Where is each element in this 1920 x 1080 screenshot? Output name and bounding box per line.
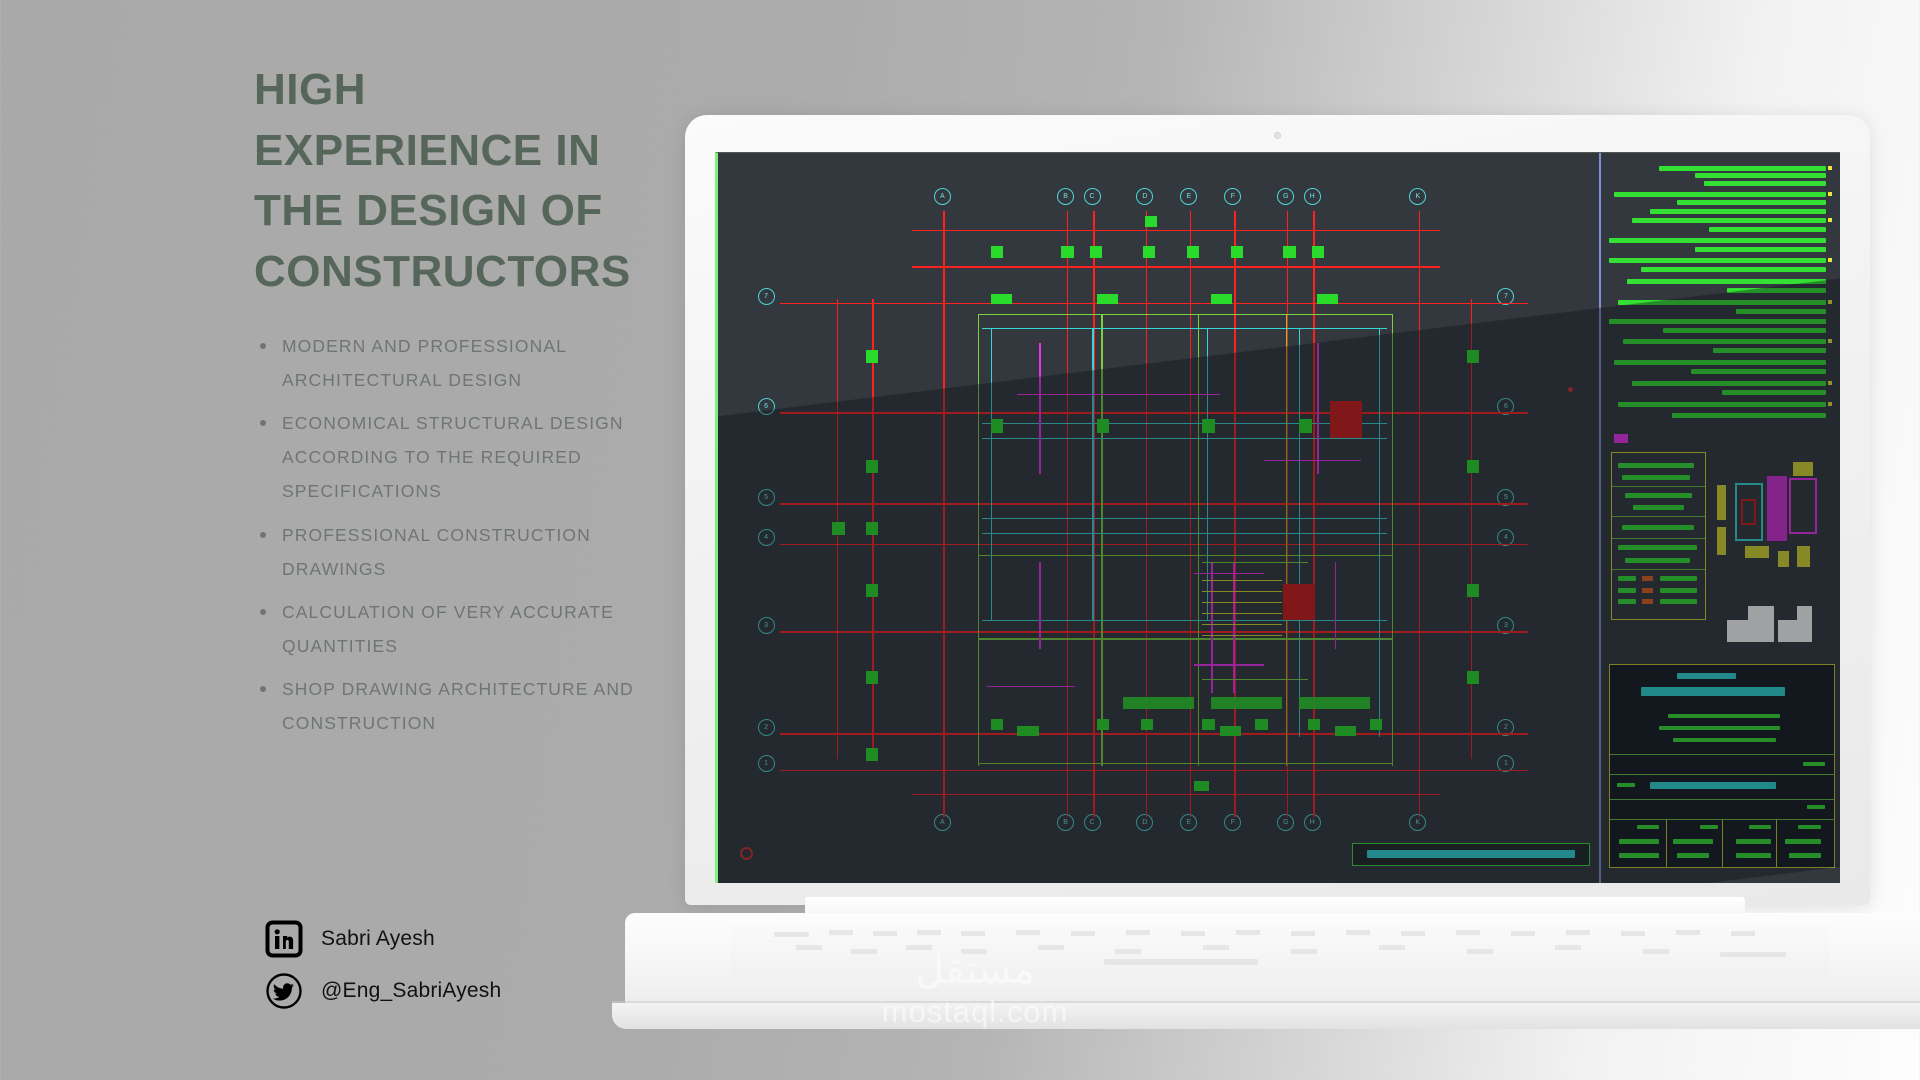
column	[1061, 246, 1073, 258]
keyboard-key	[1291, 931, 1315, 936]
stair-tread	[1202, 613, 1281, 614]
title-block-cell	[1736, 839, 1772, 844]
schedule-cell	[1660, 599, 1697, 604]
column	[1097, 719, 1109, 731]
slab-outline	[978, 314, 1392, 316]
column	[991, 719, 1003, 731]
grid-bubble-bottom-G: G	[1277, 814, 1294, 831]
grid-bubble-left-1: 1	[758, 755, 775, 772]
keyboard-key	[1379, 945, 1405, 950]
reinforcement-run	[1335, 562, 1337, 650]
bullet-marker-icon	[1828, 339, 1832, 343]
detail-part	[1717, 485, 1726, 520]
grid-bubble-top-E: E	[1180, 188, 1197, 205]
section-hatch	[1727, 606, 1821, 643]
keyboard-key	[1115, 949, 1141, 954]
gridline-horizontal	[780, 544, 1529, 545]
beam-line	[1207, 328, 1208, 620]
grid-bubble-left-7: 7	[758, 288, 775, 305]
dimension-text	[1211, 294, 1232, 304]
webcam-icon	[1274, 132, 1281, 139]
gridline-horizontal	[912, 230, 1440, 231]
staircase-outline	[1202, 679, 1308, 680]
schedule-cell	[1618, 463, 1694, 468]
gridline-horizontal	[780, 770, 1529, 771]
column	[991, 246, 1003, 258]
keyboard-key	[774, 932, 809, 937]
note-line	[1659, 166, 1826, 171]
autocad-drawing-canvas[interactable]: A B C D E F G H K A B C D E F G	[718, 153, 1840, 883]
drawing-note-label	[1352, 843, 1590, 866]
schedule-cell	[1660, 576, 1697, 581]
column	[991, 419, 1003, 432]
slab-outline	[978, 314, 980, 767]
dimension-text	[1317, 294, 1338, 304]
title-block-divider	[1610, 774, 1834, 775]
list-item: CALCULATION OF VERY ACCURATE QUANTITIES	[254, 595, 694, 663]
title-block-subline	[1673, 738, 1776, 742]
grid-bubble-top-F: F	[1224, 188, 1241, 205]
keyboard-key	[1016, 930, 1040, 935]
keyboard-key	[1643, 949, 1669, 954]
title-block-column-divider	[1722, 819, 1723, 868]
note-line	[1623, 339, 1827, 344]
keyboard-key	[873, 931, 897, 936]
annotation-text	[1123, 697, 1193, 709]
bullet-dot-icon	[260, 686, 266, 692]
detail-part	[1767, 476, 1787, 541]
note-line	[1614, 192, 1827, 197]
bullet-marker-icon	[1828, 381, 1832, 385]
keyboard-key	[1346, 930, 1370, 935]
bullet-dot-icon	[260, 609, 266, 615]
keyboard-key	[1203, 945, 1229, 950]
title-block-cell	[1789, 853, 1820, 858]
beam-line	[982, 518, 1387, 519]
keyboard-key	[1731, 931, 1755, 936]
grid-bubble-bottom-H: H	[1304, 814, 1321, 831]
beam-line	[982, 438, 1387, 439]
column	[1194, 781, 1210, 791]
detail-part	[1778, 551, 1789, 567]
schedule-cell	[1622, 475, 1690, 480]
grid-bubble-top-G: G	[1277, 188, 1294, 205]
schedule-cell	[1660, 588, 1697, 593]
column	[1299, 419, 1311, 432]
list-item: MODERN AND PROFESSIONAL ARCHITECTURAL DE…	[254, 329, 694, 397]
twitter-label: @Eng_SabriAyesh	[321, 979, 501, 1003]
schedule-cell	[1622, 525, 1694, 530]
grid-bubble-top-D: D	[1136, 188, 1153, 205]
staircase-outline	[1202, 562, 1308, 563]
laptop-mockup: A B C D E F G H K A B C D E F G	[630, 95, 1920, 1025]
column	[1231, 246, 1243, 258]
note-line	[1736, 309, 1826, 314]
note-line	[1695, 247, 1826, 252]
headline-line-1: HIGH	[254, 60, 694, 121]
column	[1467, 671, 1479, 684]
laptop-keyboard[interactable]	[730, 923, 1830, 981]
keyboard-key	[1126, 930, 1150, 935]
schedule-cell	[1625, 558, 1690, 563]
list-item-label: PROFESSIONAL CONSTRUCTION DRAWINGS	[282, 525, 591, 579]
column	[832, 522, 844, 535]
detail-part	[1735, 483, 1737, 541]
laptop-screen[interactable]: A B C D E F G H K A B C D E F G	[715, 152, 1840, 883]
detail-part	[1735, 539, 1763, 541]
grid-bubble-bottom-K: K	[1409, 814, 1426, 831]
reinforcement-run	[1017, 394, 1131, 396]
title-block-company	[1641, 687, 1784, 696]
schedule-divider	[1612, 569, 1704, 570]
dimension-text	[1017, 726, 1038, 736]
note-line	[1632, 381, 1827, 386]
title-block	[1609, 664, 1835, 868]
gridline-vertical	[1471, 299, 1472, 759]
column	[1283, 246, 1295, 258]
bullet-marker-icon	[1828, 192, 1832, 196]
title-block-divider	[1610, 754, 1834, 755]
note-line	[1691, 369, 1827, 374]
reinforcement-run	[987, 686, 1075, 688]
note-line	[1663, 328, 1826, 333]
dimension-text	[1335, 726, 1356, 736]
keyboard-key	[1291, 949, 1317, 954]
title-block-cell	[1619, 839, 1659, 844]
keyboard-key	[1071, 931, 1095, 936]
column	[1141, 719, 1153, 731]
beam-line	[1379, 328, 1380, 737]
linkedin-label: Sabri Ayesh	[321, 927, 435, 951]
laptop-lid: A B C D E F G H K A B C D E F G	[685, 115, 1870, 905]
linkedin-icon[interactable]	[265, 920, 303, 958]
reinforcement-run	[1132, 394, 1220, 396]
detail-part	[1761, 483, 1763, 541]
gridline-horizontal	[912, 794, 1440, 795]
column	[1143, 246, 1155, 258]
note-line	[1614, 360, 1827, 365]
grid-bubble-top-A: A	[934, 188, 951, 205]
page-title: HIGH EXPERIENCE IN THE DESIGN OF CONSTRU…	[254, 60, 694, 303]
column	[1202, 419, 1214, 432]
note-line	[1627, 279, 1826, 284]
stair-tread	[1202, 624, 1281, 625]
slab-outline	[978, 555, 1392, 556]
title-block-cell	[1749, 825, 1771, 829]
keyboard-key	[1720, 952, 1786, 957]
beam-line	[982, 328, 1387, 329]
column	[1312, 246, 1324, 258]
title-block-project-name	[1650, 782, 1776, 789]
beam-line	[982, 533, 1387, 534]
title-block-subline	[1659, 726, 1780, 730]
note-line	[1618, 402, 1826, 407]
reinforcement-run	[1039, 562, 1041, 650]
reinforcement-run	[1194, 573, 1264, 575]
bullet-marker-icon	[1828, 166, 1832, 170]
schedule-divider	[1612, 516, 1704, 517]
schedule-cell	[1625, 493, 1691, 498]
column	[866, 350, 878, 363]
keyboard-key	[1555, 945, 1581, 950]
note-line	[1727, 288, 1827, 293]
reinforcement-run	[1194, 664, 1264, 666]
column	[866, 584, 878, 597]
reinforcement-run	[1039, 343, 1041, 474]
column	[1202, 719, 1214, 731]
schedule-cell	[1618, 599, 1636, 604]
detail-part	[1717, 527, 1726, 555]
detail-part	[1741, 499, 1756, 525]
stair-tread	[1202, 635, 1281, 636]
schedule-cell	[1618, 576, 1636, 581]
viewport-divider	[1599, 153, 1601, 883]
note-line	[1672, 413, 1826, 418]
note-line	[1609, 238, 1826, 243]
column	[1467, 460, 1479, 473]
bullet-dot-icon	[260, 343, 266, 349]
title-block-cell	[1677, 853, 1708, 858]
schedule-value	[1642, 588, 1653, 593]
notes-and-titleblock-area	[1604, 153, 1840, 883]
headline-line-4: CONSTRUCTORS	[254, 242, 694, 303]
stair-tread	[1202, 602, 1281, 603]
schedule-cell	[1618, 545, 1697, 550]
keyboard-key	[1621, 931, 1645, 936]
note-line	[1641, 267, 1826, 272]
headline-line-2: EXPERIENCE IN	[254, 121, 694, 182]
beam-line	[1299, 328, 1300, 737]
annotation-text	[1299, 697, 1369, 709]
detail-part	[1745, 546, 1769, 558]
slab-outline	[1101, 314, 1102, 767]
beam-line	[991, 328, 992, 620]
bullet-marker-icon	[1828, 402, 1832, 406]
gridline-horizontal	[780, 503, 1529, 504]
floor-plan-area: A B C D E F G H K A B C D E F G	[718, 153, 1599, 883]
keyboard-spacebar	[1104, 959, 1258, 965]
title-block-cell	[1798, 825, 1820, 829]
detail-part	[1735, 483, 1763, 485]
grid-bubble-bottom-D: D	[1136, 814, 1153, 831]
grid-bubble-bottom-F: F	[1224, 814, 1241, 831]
gridline-horizontal	[912, 266, 1440, 267]
annotation-text	[1211, 697, 1281, 709]
keyboard-key	[796, 945, 822, 950]
gridline-horizontal	[780, 631, 1529, 632]
column	[1187, 246, 1199, 258]
dimension-text	[1220, 726, 1241, 736]
grid-bubble-top-K: K	[1409, 188, 1426, 205]
note-line	[1722, 390, 1826, 395]
title-block-field-label	[1803, 762, 1825, 766]
bullet-dot-icon	[260, 532, 266, 538]
list-item-label: ECONOMICAL STRUCTURAL DESIGN ACCORDING T…	[282, 413, 624, 501]
grid-bubble-bottom-A: A	[934, 814, 951, 831]
title-block-heading	[1677, 673, 1735, 679]
detail-part	[1789, 478, 1817, 534]
headline-line-3: THE DESIGN OF	[254, 181, 694, 242]
social-row-twitter[interactable]: @Eng_SabriAyesh	[265, 972, 501, 1010]
list-item-label: MODERN AND PROFESSIONAL ARCHITECTURAL DE…	[282, 336, 566, 390]
note-line	[1618, 300, 1826, 305]
grid-bubble-left-5: 5	[758, 489, 775, 506]
note-line	[1704, 181, 1826, 186]
grid-bubble-left-2: 2	[758, 719, 775, 736]
note-line	[1609, 258, 1826, 263]
drawing-note-text	[1367, 850, 1575, 858]
highlight-column	[1330, 401, 1362, 438]
title-block-field-label	[1807, 805, 1825, 809]
schedule-divider	[1612, 486, 1704, 487]
column	[866, 522, 878, 535]
slab-outline	[978, 763, 1392, 765]
title-block-field-label	[1617, 783, 1635, 787]
stair-tread	[1202, 591, 1281, 592]
list-item: ECONOMICAL STRUCTURAL DESIGN ACCORDING T…	[254, 406, 694, 508]
title-block-cell	[1736, 853, 1772, 858]
keyboard-key	[1676, 930, 1700, 935]
keyboard-key	[961, 949, 987, 954]
list-item-label: CALCULATION OF VERY ACCURATE QUANTITIES	[282, 602, 614, 656]
note-line	[1609, 319, 1826, 324]
layer-tag	[1614, 434, 1628, 443]
note-line	[1677, 200, 1826, 205]
slab-outline	[1392, 314, 1394, 767]
title-block-column-divider	[1776, 819, 1777, 868]
list-item: PROFESSIONAL CONSTRUCTION DRAWINGS	[254, 518, 694, 586]
column	[1308, 719, 1320, 731]
column	[1090, 246, 1102, 258]
keyboard-key	[906, 945, 932, 950]
title-block-cell	[1700, 825, 1718, 829]
schedule-value	[1642, 576, 1653, 581]
stair-tread	[1202, 580, 1281, 581]
keyboard-key	[1181, 931, 1205, 936]
schedule-cell	[1633, 505, 1685, 510]
title-block-column-divider	[1666, 819, 1667, 868]
keyboard-key	[1566, 930, 1590, 935]
reinforcement-run	[1211, 562, 1213, 693]
title-block-cell	[1785, 839, 1821, 844]
title-block-cell	[1637, 825, 1659, 829]
bullet-dot-icon	[260, 420, 266, 426]
column	[1370, 719, 1382, 731]
schedule-table	[1611, 452, 1705, 620]
column	[1145, 216, 1157, 228]
grid-bubble-bottom-E: E	[1180, 814, 1197, 831]
reinforcement-run	[1317, 343, 1319, 474]
grid-bubble-top-C: C	[1084, 188, 1101, 205]
title-block-cell	[1673, 839, 1713, 844]
keyboard-key	[1401, 931, 1425, 936]
detail-part	[1793, 462, 1813, 476]
title-block-cell	[1619, 853, 1659, 858]
beam-line	[1092, 328, 1093, 620]
list-item: SHOP DRAWING ARCHITECTURE AND CONSTRUCTI…	[254, 672, 694, 740]
note-line	[1713, 348, 1826, 353]
twitter-icon[interactable]	[265, 972, 303, 1010]
detail-part	[1797, 546, 1810, 567]
osnap-marker-icon	[740, 847, 753, 860]
keyboard-key	[1467, 949, 1493, 954]
dimension-text	[991, 294, 1012, 304]
column	[866, 748, 878, 761]
bullet-marker-icon	[1828, 300, 1832, 304]
dimension-text	[1097, 294, 1118, 304]
note-line	[1709, 227, 1827, 232]
reinforcement-run	[1264, 460, 1361, 462]
grid-bubble-bottom-C: C	[1084, 814, 1101, 831]
cursor-dot-icon	[1568, 387, 1573, 392]
keyboard-key	[917, 930, 941, 935]
column	[1467, 350, 1479, 363]
note-line	[1650, 209, 1826, 214]
gridline-horizontal	[780, 303, 1529, 304]
column	[1097, 419, 1109, 432]
schedule-divider	[1612, 538, 1704, 539]
grid-bubble-bottom-B: B	[1057, 814, 1074, 831]
left-content-column: HIGH EXPERIENCE IN THE DESIGN OF CONSTRU…	[254, 60, 694, 749]
laptop-front-edge	[612, 1003, 1920, 1029]
beam-line	[982, 620, 1387, 621]
schedule-value	[1642, 599, 1653, 604]
keyboard-key	[1038, 945, 1064, 950]
grid-bubble-left-6: 6	[758, 398, 775, 415]
grid-bubble-top-B: B	[1057, 188, 1074, 205]
reinforcement-run	[1233, 562, 1235, 693]
keyboard-key	[1236, 930, 1260, 935]
bullet-marker-icon	[1828, 258, 1832, 262]
slab-outline	[1198, 314, 1199, 767]
schedule-cell	[1618, 588, 1636, 593]
gridline-horizontal	[780, 733, 1529, 734]
highlight-column	[1283, 584, 1315, 621]
keyboard-key	[1456, 930, 1480, 935]
keyboard-key	[829, 930, 853, 935]
grid-bubble-top-H: H	[1304, 188, 1321, 205]
note-line	[1695, 173, 1826, 178]
grid-bubble-left-3: 3	[758, 617, 775, 634]
list-item-label: SHOP DRAWING ARCHITECTURE AND CONSTRUCTI…	[282, 679, 634, 733]
title-block-divider	[1610, 799, 1834, 800]
grid-bubble-left-4: 4	[758, 529, 775, 546]
title-block-subline	[1668, 714, 1780, 718]
column	[866, 460, 878, 473]
column-detail-drawing	[1715, 460, 1823, 577]
social-row-linkedin[interactable]: Sabri Ayesh	[265, 920, 501, 958]
social-links: Sabri Ayesh @Eng_SabriAyesh	[265, 920, 501, 1024]
keyboard-key	[851, 949, 877, 954]
column	[866, 671, 878, 684]
general-notes-block	[1609, 160, 1835, 423]
column	[1467, 584, 1479, 597]
column	[1255, 719, 1267, 731]
services-list: MODERN AND PROFESSIONAL ARCHITECTURAL DE…	[254, 329, 694, 740]
bullet-marker-icon	[1828, 218, 1832, 222]
gridline-horizontal	[780, 412, 1529, 413]
keyboard-key	[961, 931, 985, 936]
slab-outline	[1286, 314, 1287, 767]
note-line	[1632, 218, 1827, 223]
beam-line	[982, 423, 1387, 424]
keyboard-key	[1511, 931, 1535, 936]
